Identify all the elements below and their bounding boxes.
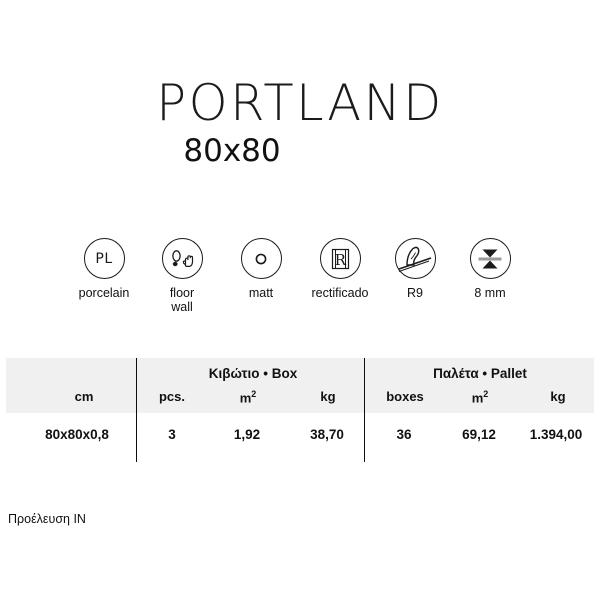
product-title-block: PORTLAND 80x80	[0, 78, 600, 167]
column-header-box-pcs: pcs.	[138, 389, 206, 404]
cell-box-m2: 1,92	[212, 427, 282, 442]
cell-size: 80x80x0,8	[22, 427, 132, 442]
table-header: Κιβώτιο • Box Παλέτα • Pallet cm pcs. m2…	[6, 358, 594, 413]
pl-badge-text: PL	[85, 251, 124, 267]
table-body: 80x80x0,8 3 1,92 38,70 36 69,12 1.394,00	[6, 413, 594, 462]
column-header-box-m2: m2	[214, 389, 282, 405]
table-divider-box	[136, 358, 137, 462]
cell-box-kg: 38,70	[291, 427, 363, 442]
column-header-pallet-m2: m2	[446, 389, 514, 405]
origin-note: Προέλευση IN	[8, 512, 86, 526]
page-title: PORTLAND	[3, 78, 597, 128]
feature-icon-strip: PL porcelain floor wall matt	[0, 238, 600, 338]
product-size-subtitle: 80x80	[0, 136, 532, 167]
table-column-header-row: cm pcs. m2 kg boxes m2 kg	[6, 389, 594, 407]
group-header-pallet: Παλέτα • Pallet	[366, 366, 594, 381]
cell-pallet-m2: 69,12	[443, 427, 515, 442]
table-divider-pallet	[364, 358, 365, 462]
group-header-box: Κιβώτιο • Box	[138, 366, 368, 381]
matt-finish-icon	[241, 238, 282, 279]
thickness-icon	[470, 238, 511, 279]
column-header-cm: cm	[36, 389, 132, 404]
specification-table: Κιβώτιο • Box Παλέτα • Pallet cm pcs. m2…	[6, 358, 594, 462]
column-header-pallet-boxes: boxes	[369, 389, 441, 404]
floor-wall-icon	[162, 238, 203, 279]
cell-pallet-kg: 1.394,00	[518, 427, 594, 442]
pl-porcelain-icon: PL	[84, 238, 125, 279]
column-header-box-kg: kg	[294, 389, 362, 404]
rectified-icon: R	[320, 238, 361, 279]
svg-text:R: R	[335, 251, 347, 269]
table-group-header-row: Κιβώτιο • Box Παλέτα • Pallet	[6, 366, 594, 384]
cell-pallet-boxes: 36	[368, 427, 440, 442]
cell-box-pcs: 3	[138, 427, 206, 442]
feature-thickness: 8 mm	[442, 238, 538, 300]
column-header-pallet-kg: kg	[524, 389, 592, 404]
table-row: 80x80x0,8 3 1,92 38,70 36 69,12 1.394,00	[6, 427, 594, 447]
feature-label-thickness: 8 mm	[442, 286, 538, 300]
slip-resistance-icon	[395, 238, 436, 279]
